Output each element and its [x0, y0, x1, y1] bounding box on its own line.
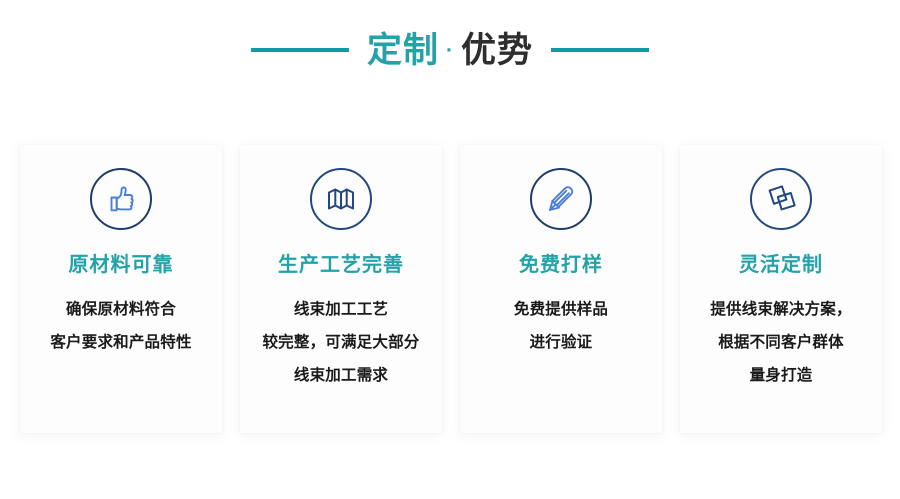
feature-card[interactable]: 原材料可靠 确保原材料符合 客户要求和产品特性: [20, 145, 222, 433]
page-title-separator: ·: [439, 40, 461, 61]
feature-card-list: 原材料可靠 确保原材料符合 客户要求和产品特性 生产工艺完善 线束加工工艺 较完…: [20, 145, 884, 433]
pencil-icon: [529, 167, 593, 231]
thumbs-up-icon: [89, 167, 153, 231]
feature-card[interactable]: 生产工艺完善 线束加工工艺 较完整，可满足大部分 线束加工需求: [240, 145, 442, 433]
feature-card-description: 免费提供样品 进行验证: [506, 293, 616, 359]
feature-card-description: 提供线束解决方案， 根据不同客户群体 量身打造: [702, 293, 859, 392]
header-rule-left: [251, 48, 349, 52]
page-title-accent: 定制: [367, 33, 439, 68]
feature-card-description: 线束加工工艺 较完整，可满足大部分 线束加工需求: [254, 293, 427, 392]
page-title-main: 优势: [461, 33, 533, 68]
overlapping-cards-icon: [749, 167, 813, 231]
feature-card-title: 生产工艺完善: [278, 253, 404, 277]
folded-map-icon: [309, 167, 373, 231]
page-title: 定制 · 优势: [367, 33, 533, 68]
feature-card[interactable]: 灵活定制 提供线束解决方案， 根据不同客户群体 量身打造: [680, 145, 882, 433]
feature-card-description: 确保原材料符合 客户要求和产品特性: [42, 293, 199, 359]
feature-card-title: 灵活定制: [739, 253, 823, 277]
feature-card[interactable]: 免费打样 免费提供样品 进行验证: [460, 145, 662, 433]
header-rule-right: [551, 48, 649, 52]
section-header: 定制 · 优势: [0, 0, 900, 100]
feature-card-title: 免费打样: [519, 253, 603, 277]
feature-card-title: 原材料可靠: [69, 253, 174, 277]
